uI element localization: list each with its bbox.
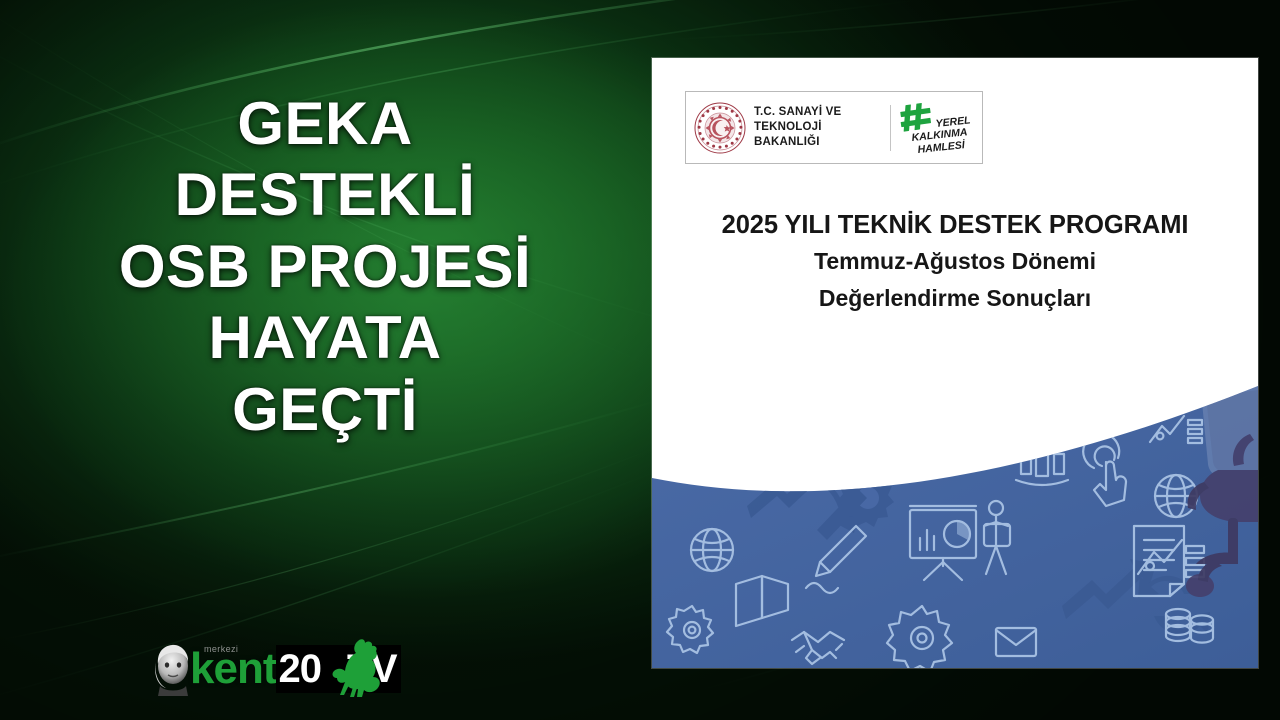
watermark-subtext: merkezi (204, 644, 238, 654)
logo-divider (890, 105, 891, 151)
watermark-black-box: 20 TV (276, 645, 401, 693)
watermark-number: 20 (278, 649, 321, 689)
news-thumbnail-stage: GEKA DESTEKLİ OSB PROJESİ HAYATA GEÇTİ (0, 0, 1280, 720)
headline: GEKA DESTEKLİ OSB PROJESİ HAYATA GEÇTİ (0, 88, 650, 445)
blue-illustration-band (652, 378, 1258, 668)
headline-line-3: OSB PROJESİ (0, 231, 650, 302)
announcement-card: T.C. SANAYİ VE TEKNOLOJİ BAKANLIĞI YEREL… (652, 58, 1258, 668)
headline-line-2: DESTEKLİ (0, 159, 650, 230)
card-title-block: 2025 YILI TEKNİK DESTEK PROGRAMI Temmuz-… (652, 210, 1258, 314)
program-title: 2025 YILI TEKNİK DESTEK PROGRAMI (652, 210, 1258, 241)
headline-line-4: HAYATA (0, 302, 650, 373)
headline-line-5: GEÇTİ (0, 374, 650, 445)
ministry-line-1: T.C. SANAYİ VE (754, 105, 880, 120)
ministry-name: T.C. SANAYİ VE TEKNOLOJİ BAKANLIĞI (754, 105, 880, 151)
period-title: Temmuz-Ağustos Dönemi (652, 245, 1258, 278)
rooster-icon (328, 637, 382, 699)
logo-lockup: T.C. SANAYİ VE TEKNOLOJİ BAKANLIĞI YEREL… (685, 91, 983, 164)
ministry-emblem-icon (693, 101, 747, 155)
ministry-line-2: TEKNOLOJİ BAKANLIĞI (754, 120, 880, 150)
channel-watermark[interactable]: merkezi kent 20 TV (152, 641, 401, 697)
yerel-kalkinma-hamlesi-logo: YEREL KALKINMA HAMLESİ (900, 99, 982, 157)
watermark-wordmark: merkezi kent 20 TV (194, 642, 401, 696)
headline-line-1: GEKA (0, 88, 650, 159)
portrait-icon (152, 642, 194, 696)
results-title: Değerlendirme Sonuçları (652, 282, 1258, 315)
